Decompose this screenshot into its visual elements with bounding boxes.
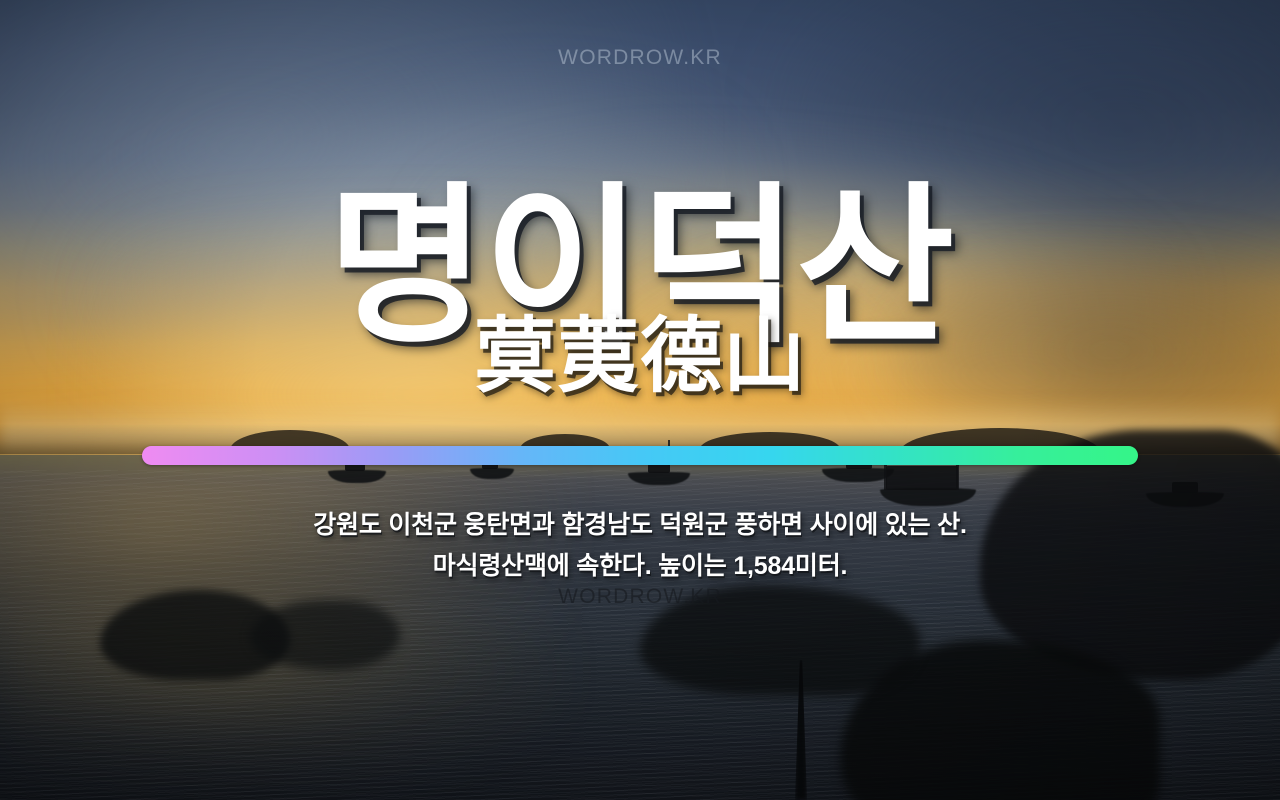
definition-text: 강원도 이천군 웅탄면과 함경남도 덕원군 풍하면 사이에 있는 산. 마식령산…	[0, 505, 1280, 588]
hanja-subtitle: 蓂荑德山	[0, 312, 1280, 402]
definition-line: 강원도 이천군 웅탄면과 함경남도 덕원군 풍하면 사이에 있는 산.	[0, 505, 1280, 546]
watermark-top: WORDROW.KR	[0, 46, 1280, 70]
definition-line: 마식령산맥에 속한다. 높이는 1,584미터.	[0, 546, 1280, 587]
word-definition-card: WORDROW.KR 명이덕산 蓂荑德山 강원도 이천군 웅탄면과 함경남도 덕…	[0, 0, 1280, 800]
gradient-divider	[142, 446, 1138, 465]
watermark-bottom: WORDROW.KR	[0, 585, 1280, 609]
card-content: WORDROW.KR 명이덕산 蓂荑德山 강원도 이천군 웅탄면과 함경남도 덕…	[0, 0, 1280, 800]
